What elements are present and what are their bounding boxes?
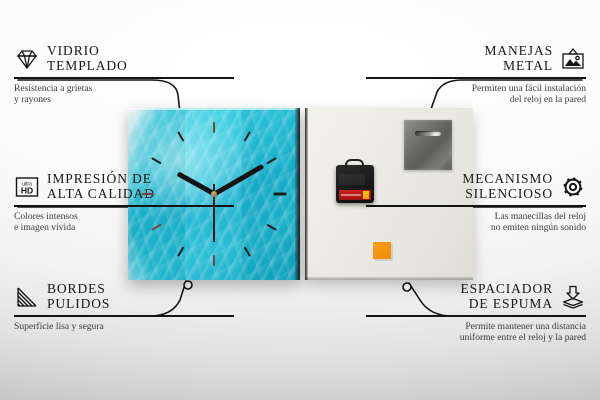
- callout-mecanismo-silencioso: MECANISMO SILENCIOSO Las manecillas del …: [366, 172, 586, 234]
- callout-header: MANEJAS METAL: [366, 44, 586, 73]
- callout-sub-line1: Permite mantener una distancia: [366, 321, 586, 333]
- polished-edge-icon: [14, 285, 40, 309]
- callout-sub-line1: Resistencia a grietas: [14, 83, 234, 95]
- callout-rule: [14, 77, 234, 79]
- clock-tick: [274, 193, 287, 196]
- callout-sub-line1: Permiten una fácil instalación: [366, 83, 586, 95]
- clock-tick: [177, 246, 184, 257]
- clock-tick: [177, 131, 184, 142]
- clock-face: [128, 108, 300, 280]
- callout-manejas-metal: MANEJAS METAL Permiten una fácil instala…: [366, 44, 586, 106]
- foam-spacer: [373, 242, 391, 259]
- callout-vidrio-templado: VIDRIO TEMPLADO Resistencia a grietas y …: [14, 44, 234, 106]
- callout-header: BORDES PULIDOS: [14, 282, 234, 311]
- callout-rule: [366, 77, 586, 79]
- callout-title-line1: MANEJAS: [484, 44, 553, 59]
- callout-rule: [366, 205, 586, 207]
- picture-frame-hanging-icon: [560, 47, 586, 71]
- callout-rule: [14, 315, 234, 317]
- hanger-keyhole-slot: [415, 131, 441, 136]
- clock-minute-hand: [213, 164, 264, 196]
- callout-title-line2: SILENCIOSO: [462, 187, 553, 202]
- callout-header: VIDRIO TEMPLADO: [14, 44, 234, 73]
- mechanism-hanging-loop: [345, 159, 364, 168]
- mechanism-body: [339, 174, 365, 185]
- callout-title-line2: TEMPLADO: [47, 59, 128, 74]
- callout-rule: [366, 315, 586, 317]
- clock-front-panel: [128, 108, 300, 280]
- press-down-layer-icon: [560, 285, 586, 309]
- panel-right-edge: [295, 108, 300, 280]
- callout-title-line2: PULIDOS: [47, 297, 110, 312]
- ultra-hd-icon: ultra HD: [14, 175, 40, 199]
- infographic-stage: VIDRIO TEMPLADO Resistencia a grietas y …: [0, 0, 600, 400]
- back-panel-bottom-edge: [305, 277, 473, 280]
- callout-title-line2: METAL: [484, 59, 553, 74]
- callout-sub-line2: y rayones: [14, 94, 234, 106]
- callout-header: MECANISMO SILENCIOSO: [366, 172, 586, 201]
- clock-tick: [151, 224, 162, 231]
- callout-sub-line2: no emiten ningún sonido: [366, 222, 586, 234]
- callout-sub-line2: del reloj en la pared: [366, 94, 586, 106]
- panel-top-highlight: [128, 108, 300, 110]
- callout-title-line1: MECANISMO: [462, 172, 553, 187]
- callout-title-line1: BORDES: [47, 282, 110, 297]
- back-panel-left-edge: [305, 108, 308, 280]
- clock-tick: [142, 193, 153, 195]
- callout-header: ESPACIADOR DE ESPUMA: [366, 282, 586, 311]
- clock-tick: [213, 255, 215, 266]
- callout-sub-line2: uniforme entre el reloj y la pared: [366, 332, 586, 344]
- callout-title-line2: DE ESPUMA: [460, 297, 553, 312]
- callout-bordes-pulidos: BORDES PULIDOS Superficie lisa y segura: [14, 282, 234, 332]
- clock-tick: [213, 122, 215, 133]
- gear-icon: [560, 175, 586, 199]
- callout-title-line1: VIDRIO: [47, 44, 128, 59]
- clock-tick: [244, 246, 251, 257]
- callout-sub-line1: Las manecillas del reloj: [366, 211, 586, 223]
- callout-sub-line1: Superficie lisa y segura: [14, 321, 234, 333]
- svg-text:HD: HD: [21, 185, 33, 195]
- clock-tick: [266, 224, 277, 231]
- clock-tick: [266, 157, 277, 164]
- clock-tick: [244, 131, 251, 142]
- clock-hour-hand: [176, 171, 215, 196]
- callout-title-line1: ESPACIADOR: [460, 282, 553, 297]
- diamond-icon: [14, 47, 40, 71]
- clock-center-pin: [211, 191, 217, 197]
- callout-espaciador-espuma: ESPACIADOR DE ESPUMA Permite mantener un…: [366, 282, 586, 344]
- clock-tick: [151, 157, 162, 164]
- metal-hanger-plate: [404, 120, 452, 170]
